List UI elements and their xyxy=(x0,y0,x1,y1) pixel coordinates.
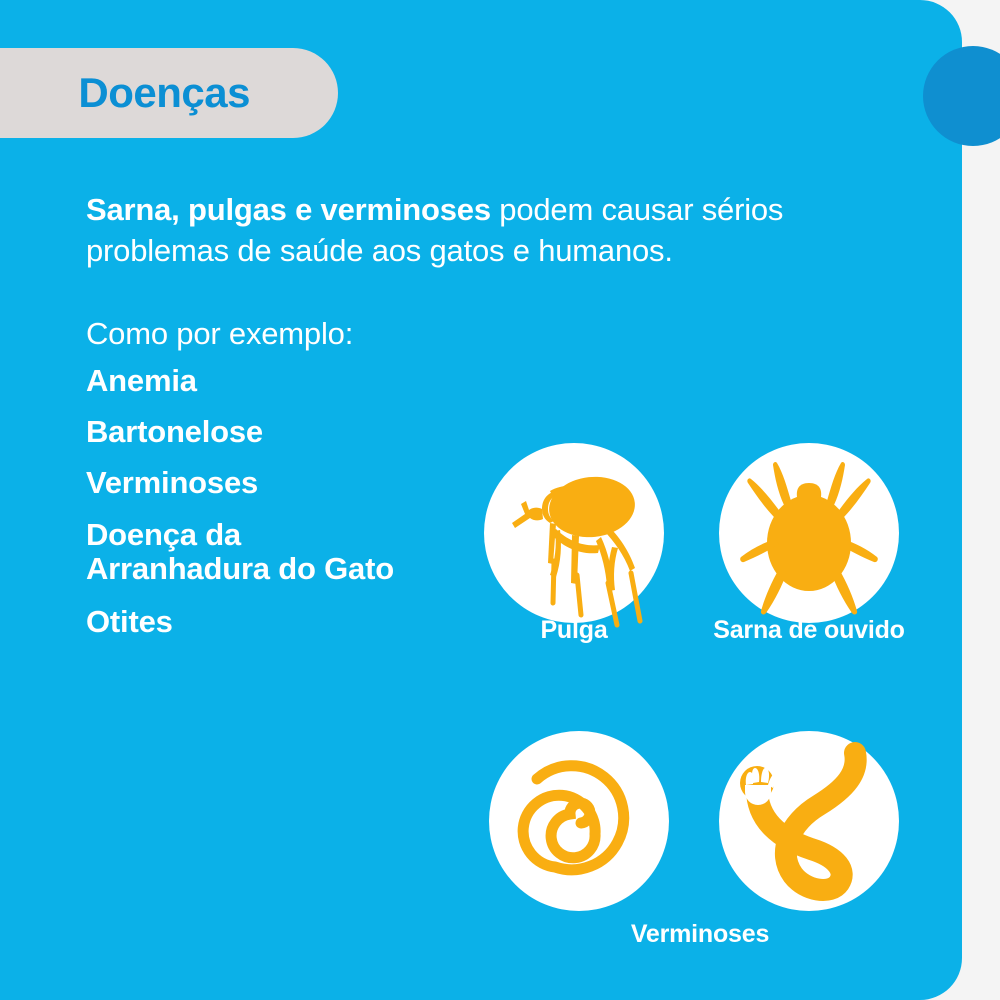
hookworm-icon xyxy=(719,731,899,911)
intro-paragraph: Sarna, pulgas e verminoses podem causar … xyxy=(86,190,876,272)
intro-bold-text: Sarna, pulgas e verminoses xyxy=(86,192,491,227)
example-label: Como por exemplo: xyxy=(86,315,353,352)
verminoses-caption: Verminoses xyxy=(500,920,900,949)
title-pill: Doenças xyxy=(0,48,338,138)
list-item: Doença da Arranhadura do Gato xyxy=(86,518,506,586)
flea-icon-badge xyxy=(484,443,664,623)
list-item: Otites xyxy=(86,606,506,637)
infographic-slide: Doenças Sarna, pulgas e verminoses podem… xyxy=(0,0,1000,1000)
list-item: Verminoses xyxy=(86,467,506,498)
list-item: Anemia xyxy=(86,365,506,396)
hookworm-icon-badge xyxy=(719,731,899,911)
ear-mite-icon xyxy=(719,443,899,623)
page-title: Doenças xyxy=(78,72,250,114)
coiled-worm-icon-badge xyxy=(489,731,669,911)
coiled-worm-icon xyxy=(489,731,669,911)
list-item: Bartonelose xyxy=(86,416,506,447)
disease-list: Anemia Bartonelose Verminoses Doença da … xyxy=(86,365,506,657)
ear-mite-icon-badge xyxy=(719,443,899,623)
flea-caption: Pulga xyxy=(484,616,664,645)
ear-mite-caption: Sarna de ouvido xyxy=(709,616,909,645)
flea-icon xyxy=(484,443,664,623)
